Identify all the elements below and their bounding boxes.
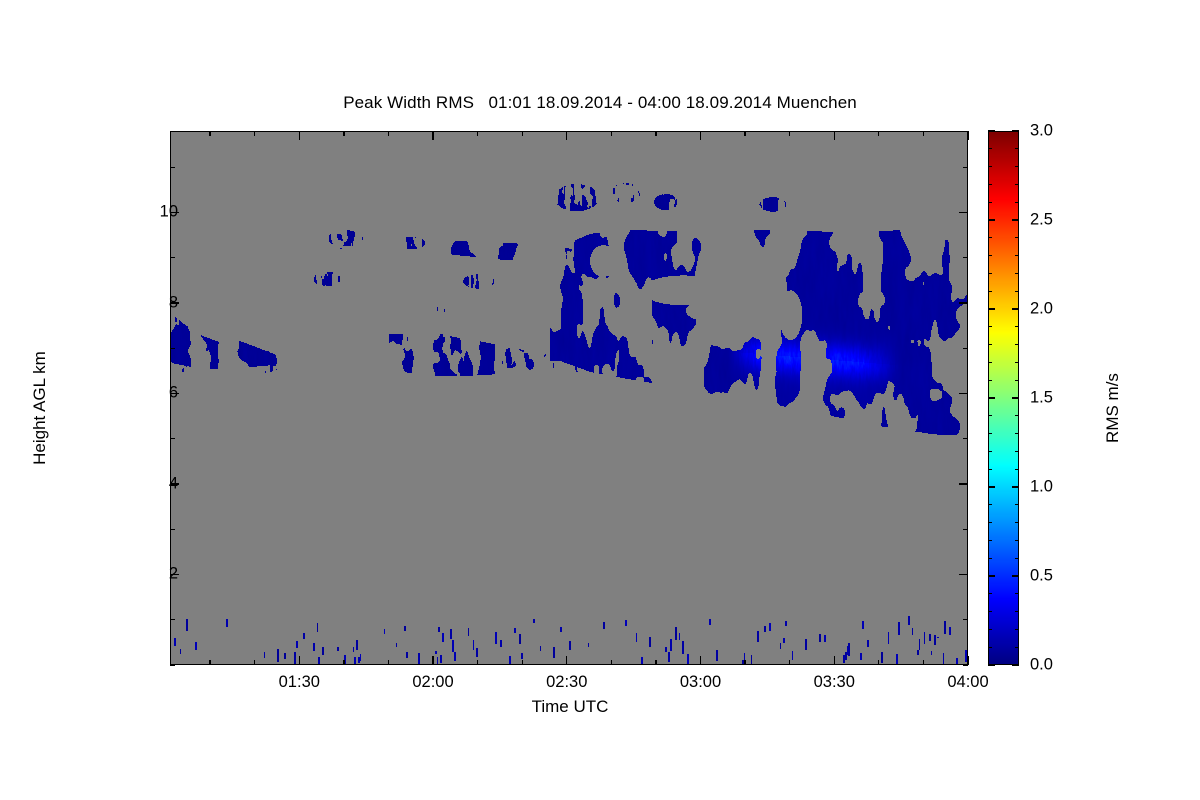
x-tick-mark [522,131,523,136]
colorbar-tick-mark [988,255,992,256]
x-tick-mark [611,131,612,136]
colorbar-tick-mark [988,148,992,149]
x-tick-mark [655,131,656,136]
colorbar-tick-mark [988,469,992,470]
x-tick-mark [432,131,433,140]
colorbar-tick-mark [1015,273,1019,274]
y-tick-mark [170,664,175,665]
colorbar-tick-mark [988,415,992,416]
colorbar-tick-mark [1015,629,1019,630]
x-tick-mark [923,660,924,665]
colorbar-tick-label: 0.0 [1030,656,1053,675]
x-tick-mark [878,131,879,136]
x-tick-mark [209,660,210,665]
x-tick-label: 02:30 [546,673,587,692]
x-tick-mark [700,656,701,665]
y-tick-mark [170,257,175,258]
colorbar-tick-mark [1015,202,1019,203]
x-tick-mark [299,656,300,665]
colorbar-tick-mark [988,522,992,523]
x-tick-mark [655,660,656,665]
colorbar-tick-mark [988,486,995,487]
x-tick-label: 03:00 [680,673,721,692]
colorbar-tick-mark [988,219,995,220]
x-tick-mark [566,131,567,140]
colorbar-tick-mark [1015,291,1019,292]
colorbar-tick-label: 1.5 [1030,389,1053,408]
x-tick-mark [700,131,701,140]
colorbar-tick-mark [988,326,992,327]
x-tick-mark [343,660,344,665]
x-tick-mark [388,660,389,665]
x-tick-mark [299,131,300,140]
colorbar-tick-label: 2.0 [1030,300,1053,319]
figure-canvas: Peak Width RMS 01:01 18.09.2014 - 04:00 … [0,0,1200,800]
y-tick-mark [959,393,968,394]
colorbar-tick-mark [1015,469,1019,470]
x-tick-mark [477,131,478,136]
x-tick-mark [878,660,879,665]
y-tick-mark [170,529,175,530]
y-tick-mark [963,529,968,530]
y-tick-label: 6 [169,384,178,403]
colorbar-tick-label: 3.0 [1030,122,1053,141]
x-tick-mark [744,660,745,665]
colorbar-tick-mark [988,237,992,238]
colorbar-tick-mark [988,397,995,398]
y-tick-label: 8 [169,293,178,312]
colorbar-tick-mark [1015,433,1019,434]
colorbar-tick-mark [988,433,992,434]
y-tick-mark [963,167,968,168]
y-tick-mark [170,438,175,439]
y-tick-mark [959,574,968,575]
colorbar-tick-mark [988,540,992,541]
y-tick-mark [959,483,968,484]
colorbar-tick-mark [1015,255,1019,256]
x-tick-mark [834,656,835,665]
y-tick-mark [963,619,968,620]
y-tick-mark [963,257,968,258]
colorbar-tick-label: 1.0 [1030,478,1053,497]
colorbar-tick-mark [988,344,992,345]
colorbar-tick-mark [988,629,992,630]
colorbar-tick-mark [988,184,992,185]
y-tick-mark [170,619,175,620]
x-tick-mark [834,131,835,140]
x-tick-mark [744,131,745,136]
y-tick-mark [959,302,968,303]
y-tick-mark [959,212,968,213]
colorbar-tick-mark [988,362,992,363]
y-tick-label: 4 [169,474,178,493]
colorbar-tick-mark [1015,558,1019,559]
x-axis-label: Time UTC [0,697,1140,717]
x-tick-label: 02:00 [412,673,453,692]
heatmap-image [171,132,968,665]
colorbar-tick-mark [988,166,992,167]
y-tick-mark [963,438,968,439]
colorbar-tick-mark [1015,522,1019,523]
y-tick-mark [170,167,175,168]
x-tick-mark [388,131,389,136]
colorbar-tick-mark [1012,664,1019,665]
colorbar-tick-mark [1015,611,1019,612]
x-tick-label: 01:30 [279,673,320,692]
colorbar-tick-mark [1012,219,1019,220]
x-tick-mark [209,131,210,136]
x-tick-mark [432,656,433,665]
x-tick-mark [477,660,478,665]
colorbar-tick-mark [988,611,992,612]
x-tick-label: 04:00 [947,673,988,692]
y-tick-mark [170,348,175,349]
colorbar-tick-mark [988,130,995,131]
colorbar-tick-mark [1012,575,1019,576]
colorbar-label: RMS m/s [1103,278,1123,538]
x-tick-mark [789,131,790,136]
colorbar-tick-mark [1015,326,1019,327]
colorbar-tick-mark [1015,451,1019,452]
colorbar-tick-mark [1012,130,1019,131]
colorbar-tick-mark [1012,308,1019,309]
heatmap-plot-area[interactable] [170,131,968,665]
y-axis-label: Height AGL km [30,278,50,538]
colorbar-tick-mark [1015,380,1019,381]
colorbar-tick-mark [1015,184,1019,185]
colorbar-tick-mark [1015,148,1019,149]
colorbar-tick-label: 2.5 [1030,211,1053,230]
y-tick-label: 2 [169,565,178,584]
x-tick-mark [967,131,968,140]
colorbar-tick-mark [988,647,992,648]
x-tick-mark [611,660,612,665]
x-tick-mark [566,656,567,665]
colorbar-tick-mark [1015,647,1019,648]
colorbar-tick-mark [1015,593,1019,594]
chart-title: Peak Width RMS 01:01 18.09.2014 - 04:00 … [0,93,1200,113]
y-tick-mark [963,348,968,349]
x-tick-mark [789,660,790,665]
colorbar-tick-mark [988,664,995,665]
colorbar-tick-mark [1015,237,1019,238]
x-tick-mark [254,660,255,665]
colorbar-tick-mark [988,593,992,594]
y-tick-label: 10 [160,203,178,222]
colorbar-tick-mark [988,273,992,274]
colorbar-tick-mark [1015,415,1019,416]
colorbar-tick-mark [988,504,992,505]
colorbar-tick-mark [1015,166,1019,167]
x-tick-label: 03:30 [814,673,855,692]
colorbar-tick-mark [1012,397,1019,398]
colorbar-tick-mark [1015,362,1019,363]
colorbar-tick-mark [1015,504,1019,505]
colorbar-tick-mark [988,308,995,309]
colorbar-tick-mark [988,202,992,203]
colorbar-tick-mark [1015,540,1019,541]
x-tick-mark [254,131,255,136]
colorbar-tick-mark [988,291,992,292]
colorbar-tick-mark [988,380,992,381]
colorbar-tick-mark [988,451,992,452]
colorbar-tick-mark [988,575,995,576]
colorbar-tick-mark [1012,486,1019,487]
x-tick-mark [522,660,523,665]
colorbar-tick-label: 0.5 [1030,567,1053,586]
colorbar-tick-mark [1015,344,1019,345]
x-tick-mark [343,131,344,136]
y-tick-mark [963,664,968,665]
colorbar-tick-mark [988,558,992,559]
x-tick-mark [923,131,924,136]
